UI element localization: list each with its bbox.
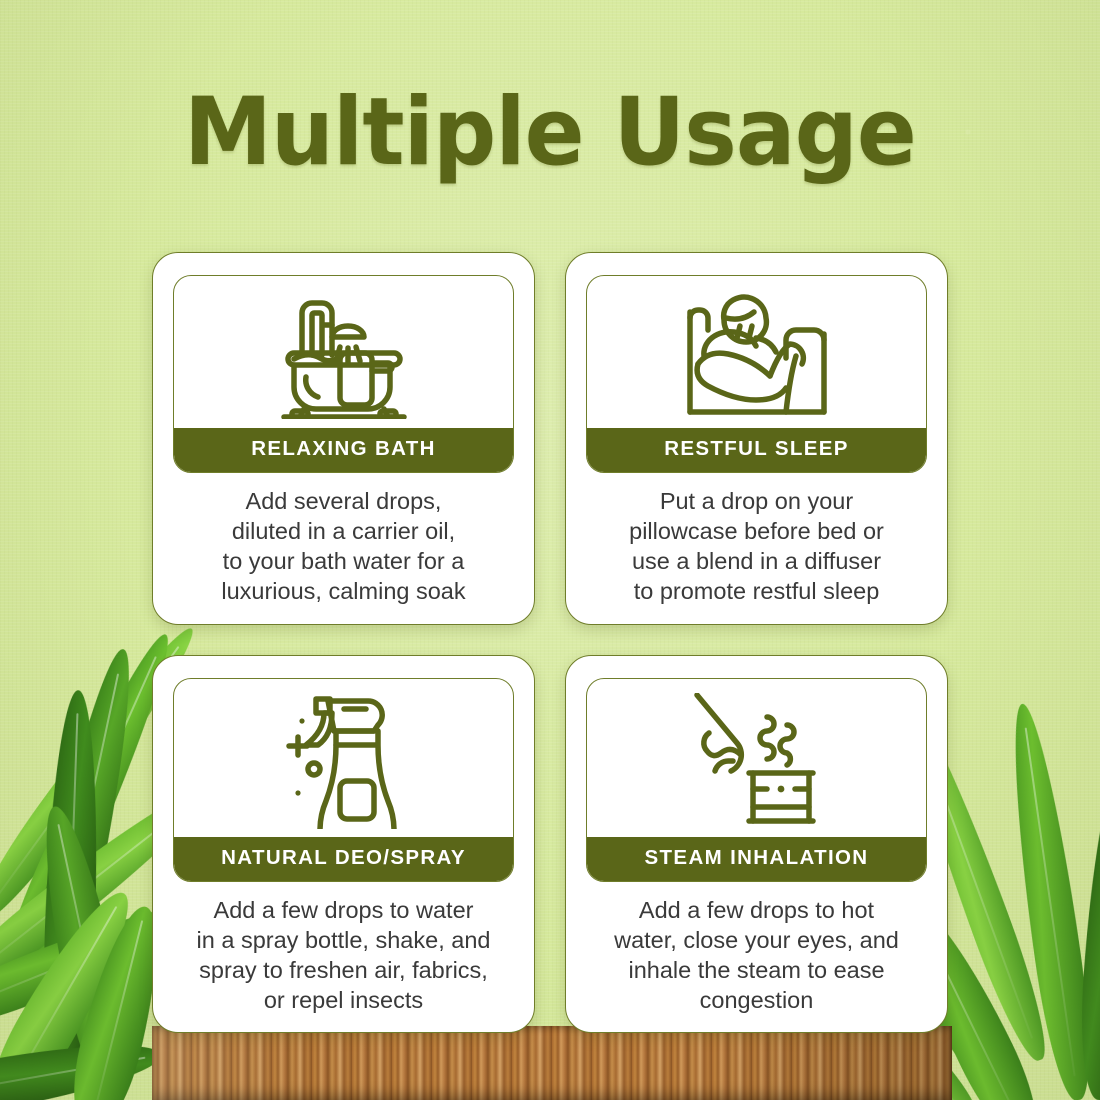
usage-card-natural-deo-spray[interactable]: NATURAL DEO/SPRAY Add a few drops to wat…	[152, 655, 535, 1033]
bathtub-shower-icon	[174, 276, 513, 428]
steam-inhalation-nose-icon	[587, 679, 926, 837]
usage-card-restful-sleep[interactable]: RESTFUL SLEEP Put a drop on your pillowc…	[565, 252, 948, 625]
card-panel: RELAXING BATH	[173, 275, 514, 473]
usage-card-steam-inhalation[interactable]: STEAM INHALATION Add a few drops to hot …	[565, 655, 948, 1033]
card-label: RESTFUL SLEEP	[587, 428, 926, 472]
card-description: Add a few drops to hot water, close your…	[586, 882, 927, 1032]
card-description: Put a drop on your pillowcase before bed…	[586, 473, 927, 624]
usage-card-grid: RELAXING BATH Add several drops, diluted…	[152, 252, 948, 1033]
spray-bottle-icon	[174, 679, 513, 837]
card-panel: NATURAL DEO/SPRAY	[173, 678, 514, 882]
card-description: Add a few drops to water in a spray bott…	[173, 882, 514, 1032]
card-label: RELAXING BATH	[174, 428, 513, 472]
card-label: STEAM INHALATION	[587, 837, 926, 881]
card-label: NATURAL DEO/SPRAY	[174, 837, 513, 881]
card-panel: RESTFUL SLEEP	[586, 275, 927, 473]
card-description: Add several drops, diluted in a carrier …	[173, 473, 514, 624]
person-sleeping-in-bed-icon	[587, 276, 926, 428]
card-panel: STEAM INHALATION	[586, 678, 927, 882]
usage-card-relaxing-bath[interactable]: RELAXING BATH Add several drops, diluted…	[152, 252, 535, 625]
page-title: Multiple Usage	[33, 86, 1067, 180]
